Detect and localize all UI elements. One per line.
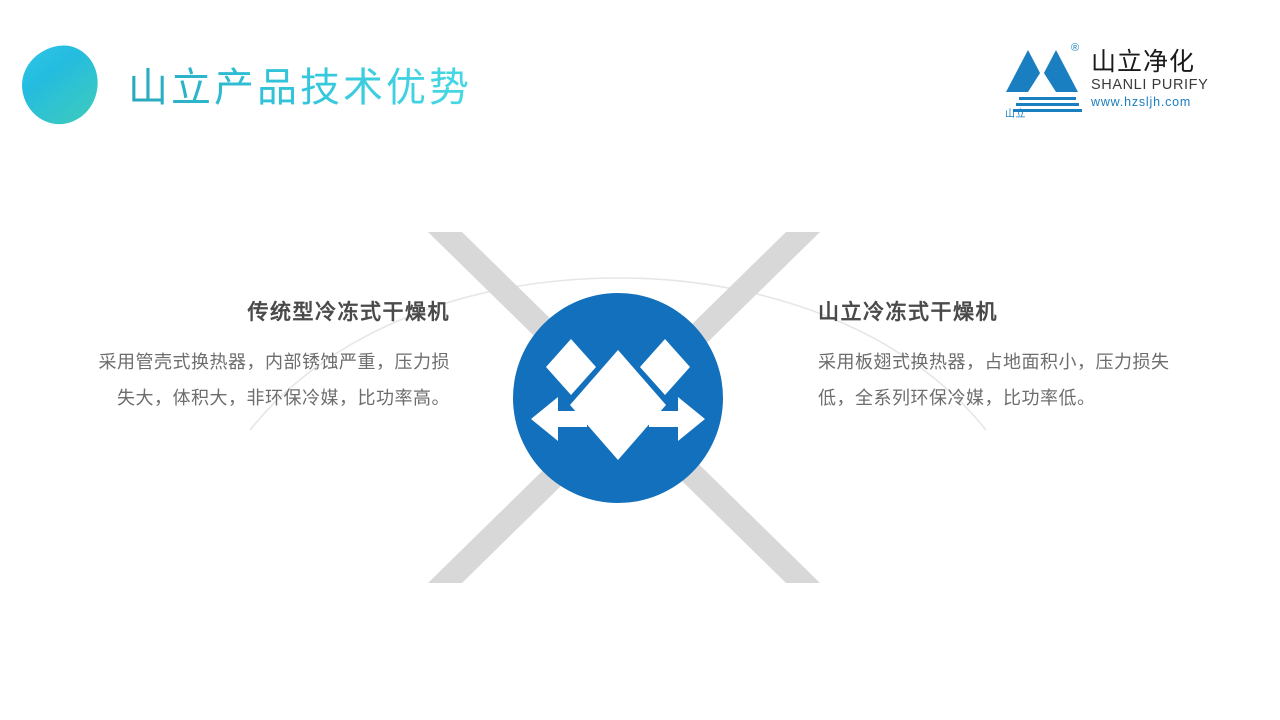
- logo-mark-label: 山立: [1005, 109, 1026, 120]
- registered-trademark-icon: ®: [1071, 43, 1079, 54]
- column-traditional-heading: 传统型冷冻式干燥机: [90, 298, 450, 328]
- column-shanli: 山立冷冻式干燥机 采用板翅式换热器，占地面积小，压力损失低，全系列环保冷媒，比功…: [818, 298, 1178, 416]
- slide-canvas: 山立产品技术优势 ® 山立 山立净化 SHANLI PURIFY www.hzs…: [0, 0, 1280, 720]
- page-title: 山立产品技术优势: [128, 62, 472, 114]
- column-shanli-body: 采用板翅式换热器，占地面积小，压力损失低，全系列环保冷媒，比功率低。: [818, 344, 1178, 416]
- column-traditional: 传统型冷冻式干燥机 采用管壳式换热器，内部锈蚀严重，压力损失大，体积大，非环保冷…: [90, 298, 450, 416]
- logo-wordmark: 山立净化 SHANLI PURIFY www.hzsljh.com: [1091, 48, 1219, 110]
- company-logo: ® 山立 山立净化 SHANLI PURIFY www.hzsljh.com: [1003, 42, 1218, 122]
- logo-company-cn: 山立净化: [1091, 48, 1219, 76]
- blob-shape-icon: [17, 41, 103, 129]
- column-shanli-heading: 山立冷冻式干燥机: [818, 298, 1178, 328]
- logo-company-en: SHANLI PURIFY: [1091, 77, 1219, 94]
- slide-header: 山立产品技术优势 ® 山立 山立净化 SHANLI PURIFY www.hzs…: [0, 0, 1280, 150]
- logo-website: www.hzsljh.com: [1091, 95, 1219, 110]
- compare-arrows-diamond-icon: [513, 293, 723, 503]
- column-traditional-body: 采用管壳式换热器，内部锈蚀严重，压力损失大，体积大，非环保冷媒，比功率高。: [90, 344, 450, 416]
